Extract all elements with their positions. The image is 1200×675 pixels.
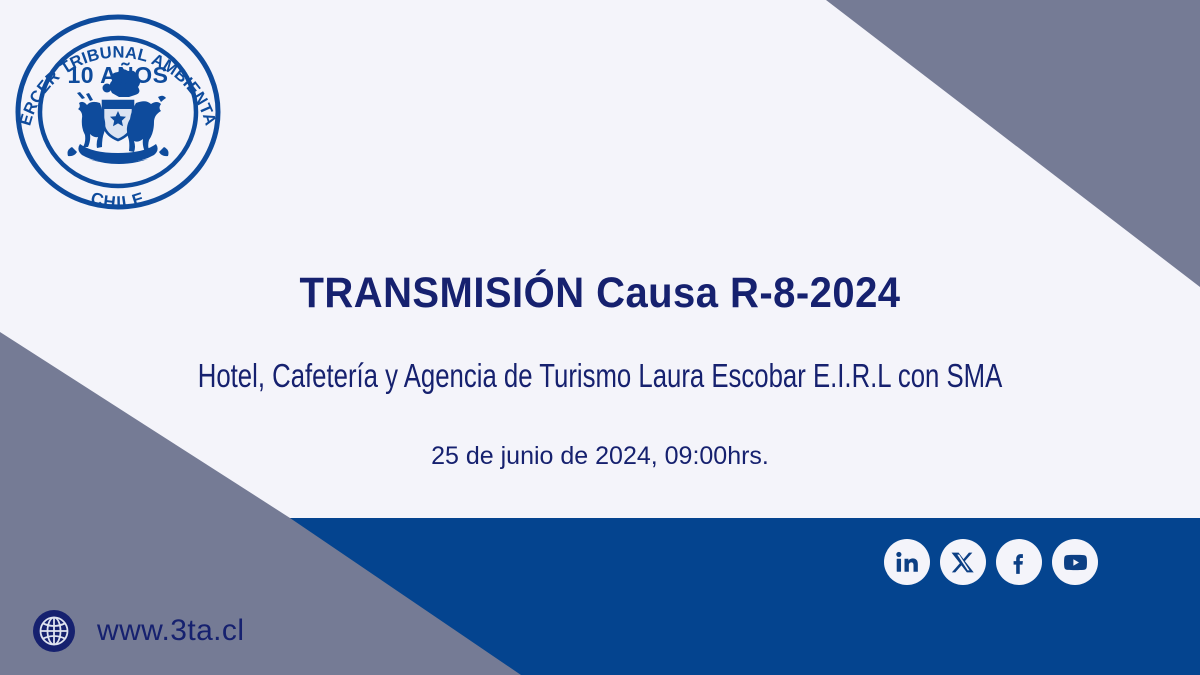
globe-icon (31, 608, 77, 654)
linkedin-icon[interactable] (884, 539, 930, 585)
website-url-text: www.3ta.cl (97, 616, 244, 646)
broadcast-title-card: TERCER TRIBUNAL AMBIENTAL CHILE 10 AÑOS (0, 0, 1200, 675)
case-subtitle: Hotel, Cafetería y Agencia de Turismo La… (132, 359, 1068, 392)
youtube-icon[interactable] (1052, 539, 1098, 585)
seal-arc-bottom-text: CHILE (88, 188, 147, 212)
institution-logo: TERCER TRIBUNAL AMBIENTAL CHILE 10 AÑOS (8, 11, 228, 213)
facebook-icon[interactable] (996, 539, 1042, 585)
page-title: TRANSMISIÓN Causa R-8-2024 (42, 272, 1158, 315)
x-twitter-icon[interactable] (940, 539, 986, 585)
event-datetime: 25 de junio de 2024, 09:00hrs. (0, 444, 1200, 469)
website-link[interactable]: www.3ta.cl (31, 608, 244, 654)
social-links (884, 539, 1098, 585)
title-text-block: TRANSMISIÓN Causa R-8-2024 Hotel, Cafete… (0, 272, 1200, 469)
